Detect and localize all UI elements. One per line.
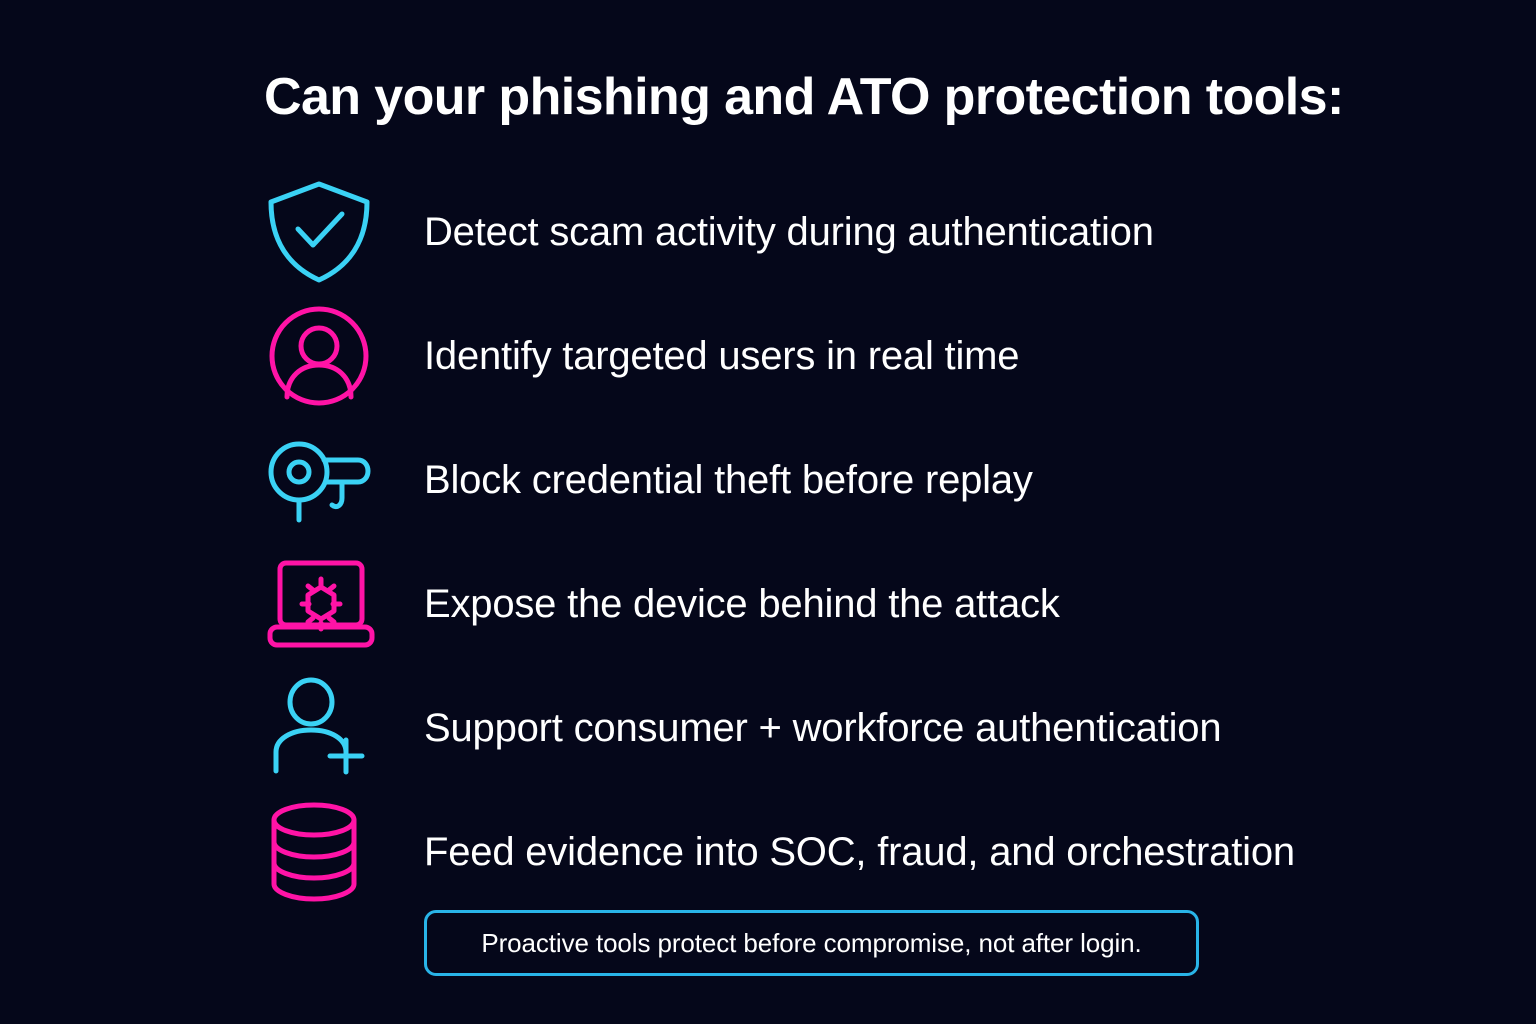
callout-box: Proactive tools protect before compromis… <box>424 910 1199 976</box>
list-item-label: Detect scam activity during authenticati… <box>424 208 1154 256</box>
list-item-label: Identify targeted users in real time <box>424 332 1019 380</box>
list-item: Feed evidence into SOC, fraud, and orche… <box>254 790 1394 914</box>
list-item-label: Support consumer + workforce authenticat… <box>424 704 1221 752</box>
poster-canvas: Can your phishing and ATO protection too… <box>0 0 1536 1024</box>
shield-check-icon <box>254 170 424 294</box>
laptop-malware-icon <box>254 542 424 666</box>
page-title: Can your phishing and ATO protection too… <box>264 66 1384 128</box>
user-circle-icon <box>254 294 424 418</box>
list-item: Identify targeted users in real time <box>254 294 1394 418</box>
callout-text: Proactive tools protect before compromis… <box>481 927 1141 959</box>
list-item-label: Feed evidence into SOC, fraud, and orche… <box>424 828 1295 876</box>
list-item: Expose the device behind the attack <box>254 542 1394 666</box>
list-item: Support consumer + workforce authenticat… <box>254 666 1394 790</box>
list-item-label: Expose the device behind the attack <box>424 580 1060 628</box>
key-icon <box>254 418 424 542</box>
checklist: Detect scam activity during authenticati… <box>254 170 1394 914</box>
list-item: Detect scam activity during authenticati… <box>254 170 1394 294</box>
database-icon <box>254 790 424 914</box>
user-plus-icon <box>254 666 424 790</box>
list-item-label: Block credential theft before replay <box>424 456 1033 504</box>
list-item: Block credential theft before replay <box>254 418 1394 542</box>
